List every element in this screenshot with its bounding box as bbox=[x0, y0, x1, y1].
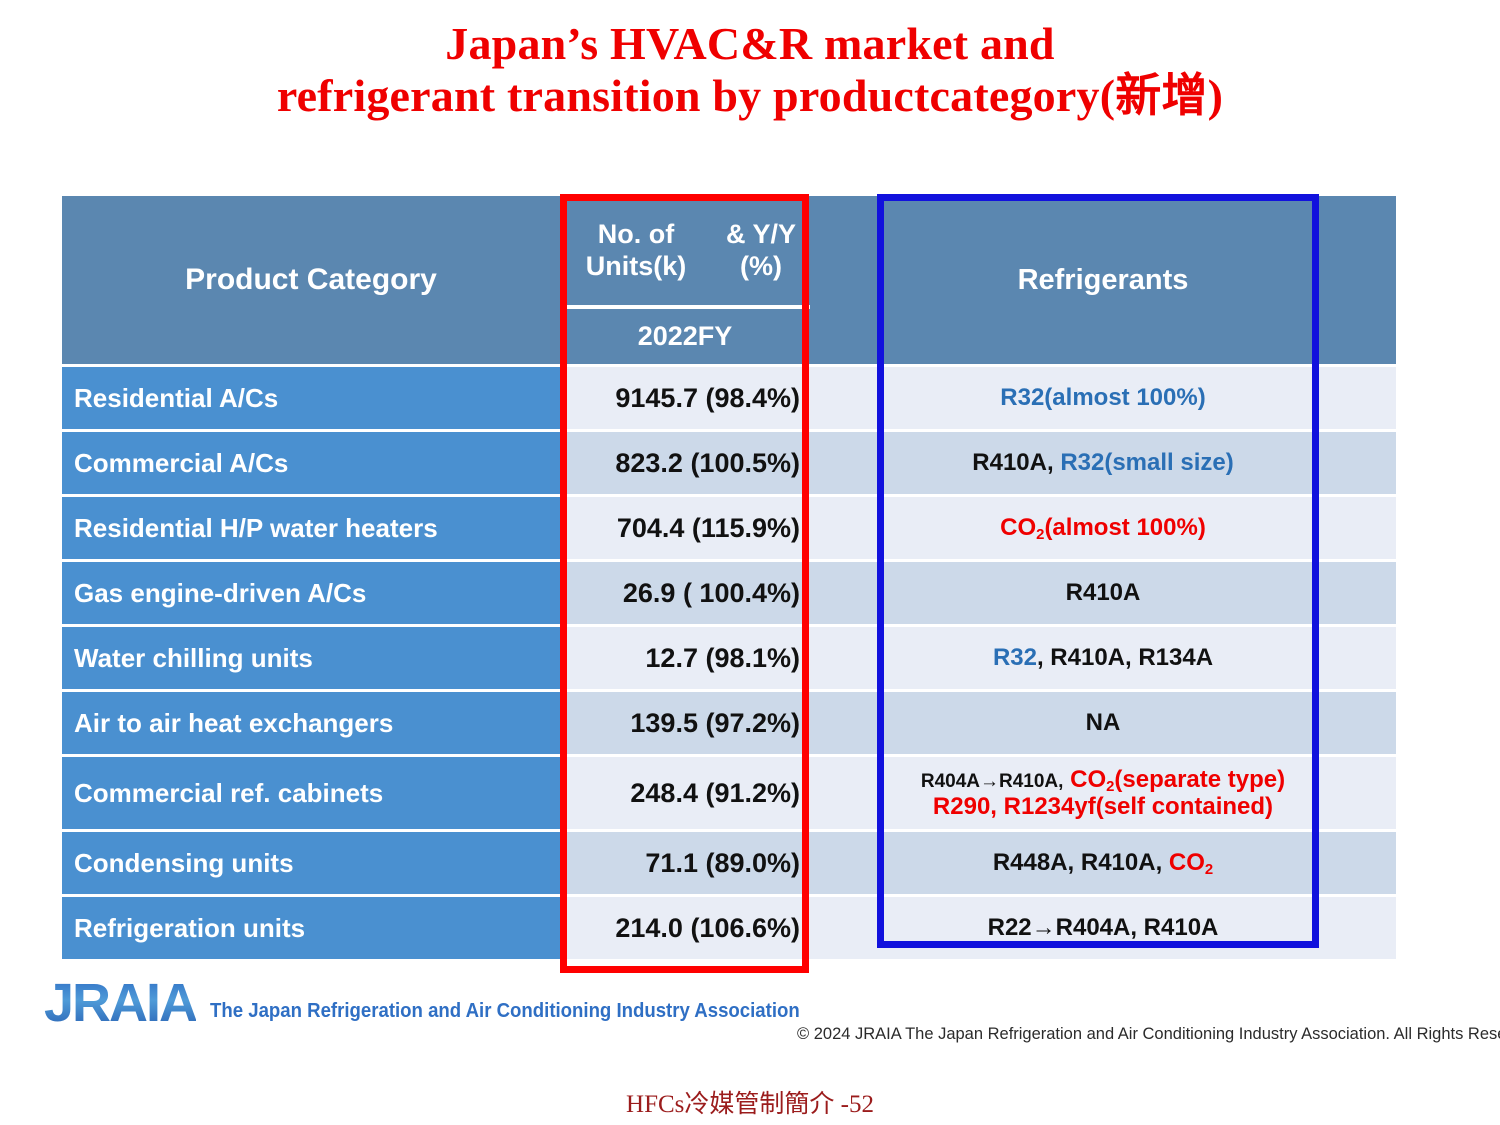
refrigerant-r32: R32(almost 100%) bbox=[1000, 384, 1205, 411]
column-header-units-line-2: & Y/Y (%) bbox=[712, 219, 810, 283]
column-header-units: No. of Units(k) & Y/Y (%) bbox=[560, 196, 810, 309]
row-category: Condensing units bbox=[62, 832, 560, 894]
row-units: 704.4 (115.9%) bbox=[560, 497, 810, 559]
row-spacer-left bbox=[810, 832, 868, 894]
row-spacer-right bbox=[1338, 757, 1396, 829]
row-refrigerants: R410A, R32(small size) bbox=[868, 432, 1338, 494]
refrigerant-co2-text: CO bbox=[1169, 849, 1205, 876]
page-title: Japan’s HVAC&R market and refrigerant tr… bbox=[0, 18, 1500, 121]
row-category: Refrigeration units bbox=[62, 897, 560, 959]
row-spacer-left bbox=[810, 692, 868, 754]
table-row: Air to air heat exchangers 139.5 (97.2%)… bbox=[62, 692, 1396, 754]
table-row: Condensing units 71.1 (89.0%) R448A, R41… bbox=[62, 832, 1396, 894]
row-category: Gas engine-driven A/Cs bbox=[62, 562, 560, 624]
row-refrigerants: R404A→R410A, CO2(separate type) R290, R1… bbox=[868, 757, 1338, 829]
row-spacer-right bbox=[1338, 432, 1396, 494]
row-units: 12.7 (98.1%) bbox=[560, 627, 810, 689]
table-row: Water chilling units 12.7 (98.1%) R32, R… bbox=[62, 627, 1396, 689]
row-spacer-right bbox=[1338, 627, 1396, 689]
copyright-notice: © 2024 JRAIA The Japan Refrigeration and… bbox=[797, 1024, 1500, 1044]
row-category: Water chilling units bbox=[62, 627, 560, 689]
refrigerant-line-2: R290, R1234yf(self contained) bbox=[921, 793, 1285, 820]
row-spacer-left bbox=[810, 432, 868, 494]
row-category: Residential A/Cs bbox=[62, 367, 560, 429]
refrigerant-co2-text: CO bbox=[1000, 514, 1036, 541]
row-refrigerants: NA bbox=[868, 692, 1338, 754]
refrigerant-r290-r1234yf: R290, R1234yf(self contained) bbox=[933, 793, 1273, 820]
row-refrigerants: R448A, R410A, CO2 bbox=[868, 832, 1338, 894]
header-spacer-right bbox=[1338, 196, 1396, 364]
row-spacer-right bbox=[1338, 832, 1396, 894]
refrigerant-co2-subscript: 2 bbox=[1106, 779, 1114, 795]
row-spacer-left bbox=[810, 897, 868, 959]
row-category: Commercial A/Cs bbox=[62, 432, 560, 494]
column-header-refrigerants: Refrigerants bbox=[868, 196, 1338, 364]
table-row: Commercial A/Cs 823.2 (100.5%) R410A, R3… bbox=[62, 432, 1396, 494]
jraia-wordmark: JRAIA bbox=[44, 976, 196, 1030]
refrigerant-r410a: R410A, bbox=[972, 449, 1053, 476]
row-units: 139.5 (97.2%) bbox=[560, 692, 810, 754]
table-row: Residential H/P water heaters 704.4 (115… bbox=[62, 497, 1396, 559]
row-spacer-right bbox=[1338, 367, 1396, 429]
refrigerant-co2-subscript: 2 bbox=[1205, 862, 1213, 878]
table-header-row: Product Category No. of Units(k) & Y/Y (… bbox=[62, 196, 1396, 364]
page-title-line-1: Japan’s HVAC&R market and bbox=[0, 18, 1500, 70]
row-spacer-left bbox=[810, 627, 868, 689]
refrigerant-co2-note: (separate type) bbox=[1114, 766, 1285, 793]
refrigerant-co2: CO2 bbox=[1169, 849, 1213, 876]
row-refrigerants: R410A bbox=[868, 562, 1338, 624]
hvacr-market-table: Product Category No. of Units(k) & Y/Y (… bbox=[62, 196, 1396, 959]
refrigerant-co2-note: (almost 100%) bbox=[1044, 514, 1205, 541]
refrigerant-line-1: R404A→R410A, CO2(separate type) bbox=[921, 766, 1285, 793]
refrigerant-r32: R32 bbox=[993, 644, 1037, 671]
refrigerant-co2-text: CO bbox=[1070, 766, 1106, 793]
refrigerant-r448a-r410a: R448A, R410A, bbox=[993, 849, 1162, 876]
row-category: Air to air heat exchangers bbox=[62, 692, 560, 754]
refrigerant-r410a: R410A bbox=[1066, 579, 1141, 606]
refrigerant-co2: CO2(separate type) bbox=[1070, 766, 1285, 793]
row-units: 9145.7 (98.4%) bbox=[560, 367, 810, 429]
row-spacer-right bbox=[1338, 897, 1396, 959]
header-spacer-left bbox=[810, 196, 868, 364]
column-header-product-category: Product Category bbox=[62, 196, 560, 364]
refrigerant-co2: CO2(almost 100%) bbox=[1000, 514, 1206, 541]
page-title-line-2: refrigerant transition by productcategor… bbox=[0, 70, 1500, 122]
row-units: 823.2 (100.5%) bbox=[560, 432, 810, 494]
slide-footer: HFCs冷媒管制簡介 -52 bbox=[0, 1084, 1500, 1120]
row-units: 71.1 (89.0%) bbox=[560, 832, 810, 894]
jraia-logo: JRAIA The Japan Refrigeration and Air Co… bbox=[44, 976, 844, 1030]
column-header-fiscal-year: 2022FY bbox=[560, 309, 810, 364]
row-units: 26.9 ( 100.4%) bbox=[560, 562, 810, 624]
row-spacer-right bbox=[1338, 497, 1396, 559]
refrigerant-multiline: R404A→R410A, CO2(separate type) R290, R1… bbox=[921, 766, 1285, 821]
column-header-units-stack: No. of Units(k) & Y/Y (%) 2022FY bbox=[560, 196, 810, 364]
table-row: Gas engine-driven A/Cs 26.9 ( 100.4%) R4… bbox=[62, 562, 1396, 624]
row-units: 248.4 (91.2%) bbox=[560, 757, 810, 829]
row-refrigerants: CO2(almost 100%) bbox=[868, 497, 1338, 559]
row-refrigerants: R32, R410A, R134A bbox=[868, 627, 1338, 689]
table-row: Commercial ref. cabinets 248.4 (91.2%) R… bbox=[62, 757, 1396, 829]
refrigerant-r404a-to-r410a: R404A→R410A, bbox=[921, 771, 1064, 792]
row-units: 214.0 (106.6%) bbox=[560, 897, 810, 959]
refrigerant-co2-subscript: 2 bbox=[1036, 527, 1044, 543]
column-header-units-line-1: No. of Units(k) bbox=[560, 219, 712, 283]
refrigerant-r32: R32(small size) bbox=[1060, 449, 1233, 476]
row-refrigerants: R22→R404A, R410A bbox=[868, 897, 1338, 959]
row-spacer-left bbox=[810, 757, 868, 829]
row-category: Residential H/P water heaters bbox=[62, 497, 560, 559]
row-spacer-left bbox=[810, 367, 868, 429]
refrigerant-r22-to-r404a: R22→R404A, R410A bbox=[988, 914, 1219, 941]
refrigerant-na: NA bbox=[1086, 709, 1121, 736]
row-refrigerants: R32(almost 100%) bbox=[868, 367, 1338, 429]
row-category: Commercial ref. cabinets bbox=[62, 757, 560, 829]
refrigerant-others: , R410A, R134A bbox=[1037, 644, 1213, 671]
row-spacer-right bbox=[1338, 692, 1396, 754]
table-row: Refrigeration units 214.0 (106.6%) R22→R… bbox=[62, 897, 1396, 959]
row-spacer-right bbox=[1338, 562, 1396, 624]
row-spacer-left bbox=[810, 562, 868, 624]
jraia-tagline: The Japan Refrigeration and Air Conditio… bbox=[210, 1000, 800, 1023]
table-row: Residential A/Cs 9145.7 (98.4%) R32(almo… bbox=[62, 367, 1396, 429]
row-spacer-left bbox=[810, 497, 868, 559]
